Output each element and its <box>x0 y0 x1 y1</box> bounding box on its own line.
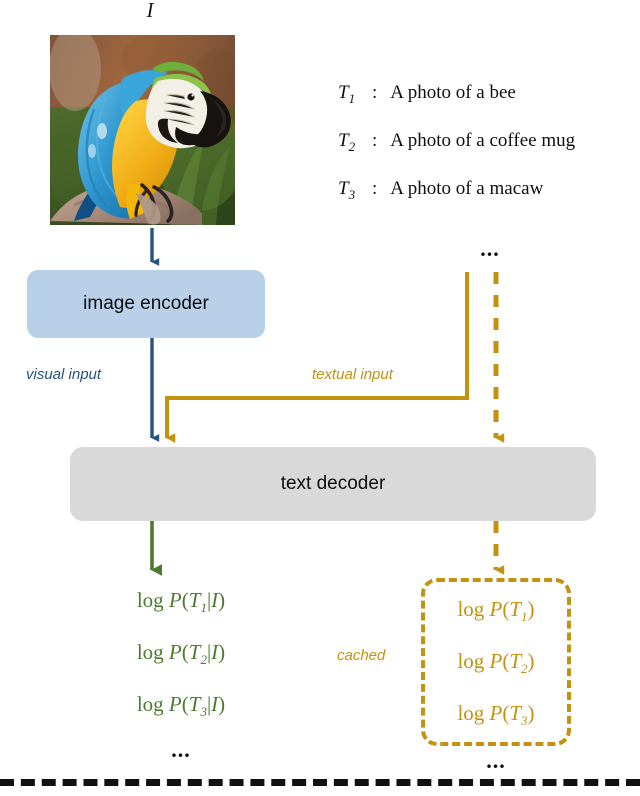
cached-output-item: log P(T2) <box>421 646 571 698</box>
prompt-key: T1 <box>338 82 372 107</box>
prompt-text: A photo of a bee <box>377 82 516 103</box>
conditional-output-ellipsis: ... <box>86 741 276 759</box>
textual-input-label: textual input <box>312 366 393 383</box>
text-decoder-box: text decoder <box>70 447 596 521</box>
conditional-output-item: log P(T3|I) <box>86 689 276 741</box>
diagram-canvas: I <box>0 0 640 796</box>
cached-output-ellipsis: ... <box>421 748 571 774</box>
conditional-output-list: log P(T1|I) log P(T2|I) log P(T3|I) ... <box>86 585 276 759</box>
page-title: I <box>130 0 170 23</box>
image-encoder-label: image encoder <box>83 293 209 315</box>
prompt-item: T3:A photo of a macaw <box>338 178 638 226</box>
conditional-output-item: log P(T2|I) <box>86 637 276 689</box>
prompt-key: T2 <box>338 130 372 155</box>
prompt-text: A photo of a macaw <box>377 178 543 199</box>
visual-input-label: visual input <box>26 366 101 383</box>
macaw-photo <box>50 35 235 225</box>
bottom-separator <box>0 779 640 786</box>
macaw-photo-art <box>50 35 235 225</box>
prompt-text: A photo of a coffee mug <box>377 130 575 151</box>
prompt-list-ellipsis: ... <box>470 236 510 262</box>
image-encoder-box: image encoder <box>27 270 265 338</box>
conditional-output-item: log P(T1|I) <box>86 585 276 637</box>
cached-label: cached <box>337 647 385 664</box>
text-decoder-label: text decoder <box>281 473 386 495</box>
prompt-list: T1:A photo of a bee T2:A photo of a coff… <box>338 82 638 226</box>
prompt-item: T1:A photo of a bee <box>338 82 638 130</box>
prompt-key: T3 <box>338 178 372 203</box>
prompt-item: T2:A photo of a coffee mug <box>338 130 638 178</box>
cached-output-item: log P(T1) <box>421 594 571 646</box>
cached-output-item: log P(T3) <box>421 698 571 750</box>
cached-output-list: log P(T1) log P(T2) log P(T3) <box>421 594 571 750</box>
